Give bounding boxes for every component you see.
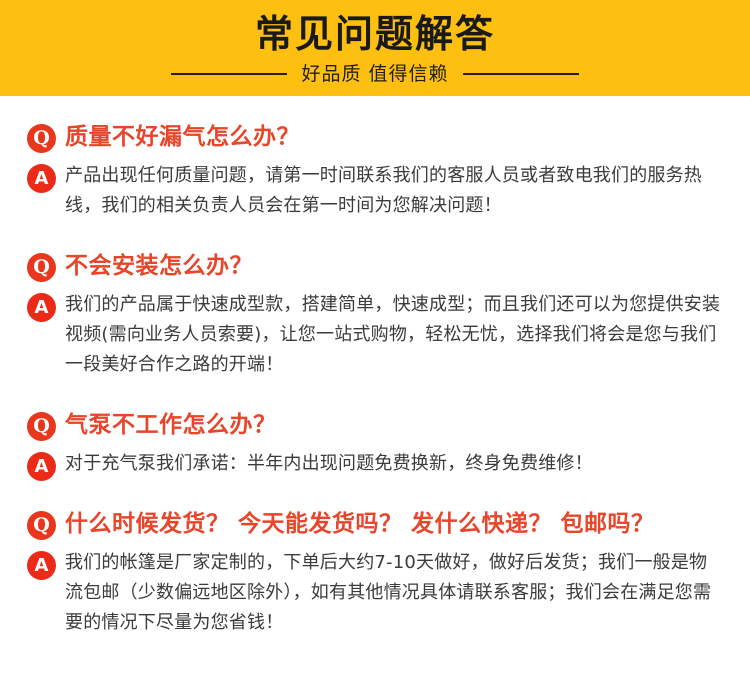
faq-question-text: 质量不好漏气怎么办？	[65, 122, 722, 152]
faq-question-row: Q 什么时候发货？ 今天能发货吗？ 发什么快递？ 包邮吗？	[27, 509, 722, 539]
answer-badge-icon: A	[27, 452, 56, 481]
subtitle-rule-left	[171, 73, 287, 75]
answer-badge-icon: A	[27, 293, 56, 322]
faq-answer-row: A 我们的产品属于快速成型款，搭建简单，快速成型；而且我们还可以为您提供安装视频…	[27, 290, 722, 380]
faq-question-text: 什么时候发货？ 今天能发货吗？ 发什么快递？ 包邮吗？	[65, 509, 722, 539]
subtitle-rule-right	[463, 73, 579, 75]
faq-item: Q 气泵不工作怎么办？ A 对于充气泵我们承诺：半年内出现问题免费换新，终身免费…	[0, 410, 750, 479]
faq-item: Q 不会安装怎么办？ A 我们的产品属于快速成型款，搭建简单，快速成型；而且我们…	[0, 251, 750, 380]
answer-badge-icon: A	[27, 164, 56, 193]
question-badge-icon: Q	[27, 124, 56, 153]
faq-page: 常见问题解答 好品质 值得信赖 Q 质量不好漏气怎么办？ A 产品出现任何质量问…	[0, 0, 750, 688]
faq-question-row: Q 质量不好漏气怎么办？	[27, 122, 722, 152]
banner-subtitle: 好品质 值得信赖	[287, 63, 462, 85]
faq-question-row: Q 气泵不工作怎么办？	[27, 410, 722, 440]
faq-answer-row: A 对于充气泵我们承诺：半年内出现问题免费换新，终身免费维修！	[27, 449, 722, 479]
faq-answer-text: 对于充气泵我们承诺：半年内出现问题免费换新，终身免费维修！	[65, 449, 722, 479]
faq-answer-text: 我们的产品属于快速成型款，搭建简单，快速成型；而且我们还可以为您提供安装视频(需…	[65, 290, 722, 380]
faq-item: Q 质量不好漏气怎么办？ A 产品出现任何质量问题，请第一时间联系我们的客服人员…	[0, 122, 750, 221]
banner-subtitle-group: 好品质 值得信赖	[0, 61, 750, 87]
faq-question-text: 不会安装怎么办？	[65, 251, 722, 281]
header-banner: 常见问题解答 好品质 值得信赖	[0, 0, 750, 96]
question-badge-icon: Q	[27, 511, 56, 540]
answer-badge-icon: A	[27, 551, 56, 580]
faq-question-row: Q 不会安装怎么办？	[27, 251, 722, 281]
faq-answer-row: A 产品出现任何质量问题，请第一时间联系我们的客服人员或者致电我们的服务热线，我…	[27, 161, 722, 221]
question-badge-icon: Q	[27, 412, 56, 441]
faq-item: Q 什么时候发货？ 今天能发货吗？ 发什么快递？ 包邮吗？ A 我们的帐篷是厂家…	[0, 509, 750, 638]
question-badge-icon: Q	[27, 253, 56, 282]
page-title: 常见问题解答	[0, 12, 750, 56]
faq-answer-text: 产品出现任何质量问题，请第一时间联系我们的客服人员或者致电我们的服务热线，我们的…	[65, 161, 722, 221]
faq-question-text: 气泵不工作怎么办？	[65, 410, 722, 440]
faq-answer-text: 我们的帐篷是厂家定制的，下单后大约7-10天做好，做好后发货；我们一般是物流包邮…	[65, 548, 722, 638]
faq-list: Q 质量不好漏气怎么办？ A 产品出现任何质量问题，请第一时间联系我们的客服人员…	[0, 122, 750, 638]
faq-answer-row: A 我们的帐篷是厂家定制的，下单后大约7-10天做好，做好后发货；我们一般是物流…	[27, 548, 722, 638]
